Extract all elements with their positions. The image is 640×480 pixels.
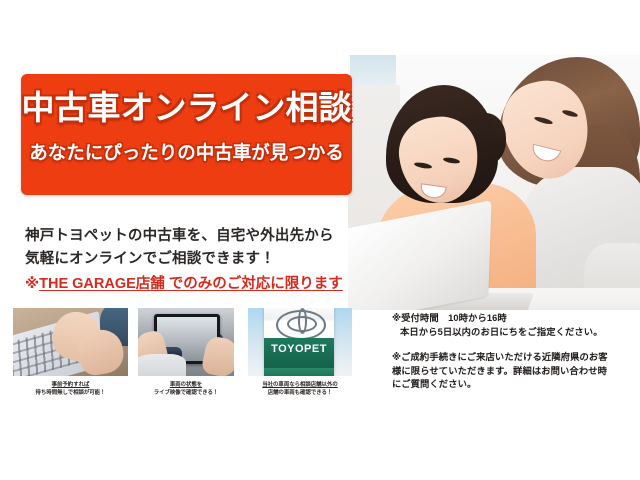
promo-page: 中古車オンライン相談 あなたにぴったりの中古車が見つかる 神戸トヨペットの中古車…	[0, 0, 640, 480]
thumbnail-caption: 事前予約すれば 待ち時間無しで相談が可能！	[13, 381, 128, 397]
thumbnail-caption: 車両の状態を ライブ映像で確認できる！	[138, 381, 234, 397]
brand-name-text: TOYOPET	[264, 343, 334, 355]
banner-title: 中古車オンライン相談	[21, 91, 352, 124]
caption-line-1: 事前予約すれば	[13, 381, 128, 389]
headline-banner: 中古車オンライン相談 あなたにぴったりの中古車が見つかる	[21, 74, 352, 195]
note-asterisk: ※	[25, 276, 39, 292]
note-underlined-text: THE GARAGE店舗 でのみのご対応に限ります	[39, 276, 343, 292]
toyopet-dealer-sign-photo: TOYOPET	[248, 308, 352, 376]
dealer-sign-board: TOYOPET	[264, 308, 334, 376]
caption-line-1: 当社の車両なら相談店舗以外の	[248, 381, 352, 389]
caption-line-1: 車両の状態を	[138, 381, 234, 389]
hands-typing-on-laptop-photo	[13, 308, 128, 376]
feature-thumbnails: 事前予約すれば 待ち時間無しで相談が可能！ 車両の状態を ライブ映像で確認できる…	[13, 308, 358, 408]
thumbnail-caption: 当社の車両なら相談店舗以外の 店舗の車両も確認できる！	[248, 381, 352, 397]
banner-subtitle: あなたにぴったりの中古車が見つかる	[21, 144, 352, 163]
lead-copy: 神戸トヨペットの中古車を、自宅や外出先から 気軽にオンラインでご相談できます！ …	[25, 225, 355, 294]
note-hours-line-2: 本日から5日以内のお日にちをご指定ください。	[392, 326, 630, 340]
thumbnail-item: 事前予約すれば 待ち時間無しで相談が可能！	[13, 308, 128, 397]
note-area-line-3: にご質問ください。	[392, 378, 630, 392]
caption-line-2: ライブ映像で確認できる！	[138, 389, 234, 397]
thumbnail-item: 車両の状態を ライブ映像で確認できる！	[138, 308, 234, 397]
hero-photo	[348, 55, 640, 310]
tablet-live-video-of-cars-photo	[138, 308, 234, 376]
caption-line-2: 店舗の車両も確認できる！	[248, 389, 352, 397]
thumbnail-item: TOYOPET 当社の車両なら相談店舗以外の 店舗の車両も確認できる！	[248, 308, 352, 397]
note-block-hours: ※受付時間 10時から16時 本日から5日以内のお日にちをご指定ください。	[392, 312, 630, 339]
lead-line-2: 気軽にオンラインでご相談できます！	[25, 248, 355, 271]
toyota-emblem-icon	[276, 310, 326, 340]
brand-band: TOYOPET	[264, 338, 334, 368]
note-area-line-2: 様に限らせていただきます。詳細はお問い合わせ時	[392, 365, 630, 379]
hero-window-panel	[350, 55, 396, 85]
note-hours-line-1: ※受付時間 10時から16時	[392, 312, 630, 326]
shoulder-shape	[138, 354, 186, 376]
lead-line-1: 神戸トヨペットの中古車を、自宅や外出先から	[25, 225, 355, 248]
sub-brand-band	[264, 368, 334, 376]
caption-line-2: 待ち時間無しで相談が可能！	[13, 389, 128, 397]
note-block-area: ※ご成約手続きにご来店いただける近隣府県のお客 様に限らせていただきます。詳細は…	[392, 351, 630, 392]
note-area-line-1: ※ご成約手続きにご来店いただける近隣府県のお客	[392, 351, 630, 365]
lead-restriction-note: ※THE GARAGE店舗 でのみのご対応に限ります	[25, 274, 355, 294]
disclaimer-notes: ※受付時間 10時から16時 本日から5日以内のお日にちをご指定ください。 ※ご…	[392, 312, 630, 404]
